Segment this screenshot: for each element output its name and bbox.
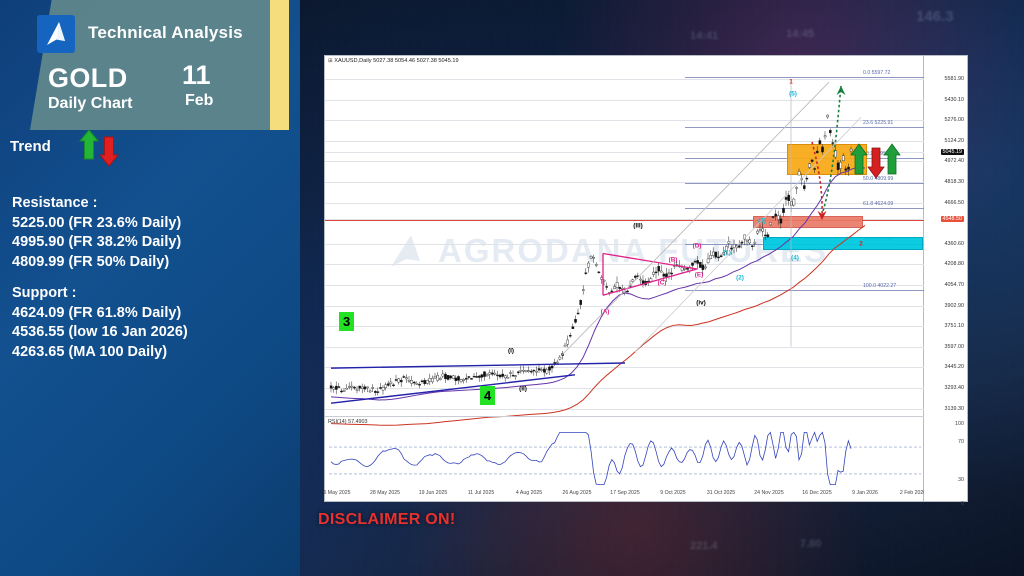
price-axis-label: 3293.40 [945, 385, 965, 391]
price-pane: 0.0 5597.7223.6 5225.9138.2 4995.9050.0 … [325, 68, 925, 416]
price-axis-label: 4548.50 [941, 216, 965, 222]
support-title: Support : [12, 284, 188, 304]
wave-label: (A) [601, 309, 610, 316]
bg-ghost-number: 146.3 [916, 8, 954, 25]
wave-label: (D) [693, 243, 702, 250]
wave-label: (I) [508, 348, 514, 355]
wave-label: (1) [723, 250, 731, 257]
wave-label: (C) [658, 280, 667, 287]
price-axis-label: 5581.90 [945, 76, 965, 82]
support-item: 4263.65 (MA 100 Daily) [12, 343, 188, 363]
disclaimer-text: DISCLAIMER ON! [318, 511, 456, 529]
wave-label: (III) [633, 223, 643, 230]
instrument-name: GOLD [48, 63, 128, 94]
bg-ghost-number: 221.4 [690, 540, 718, 552]
timeframe-label: Daily Chart [48, 95, 132, 113]
date-axis-label: 9 Oct 2025 [660, 490, 685, 496]
green-up-arrow-icon [80, 130, 98, 159]
date-axis-label: 17 Sep 2025 [610, 490, 639, 496]
wave-count-4: 4 [480, 386, 495, 405]
red-down-arrow-icon [100, 137, 118, 166]
resistance-item: 4809.99 (FR 50% Daily) [12, 253, 181, 273]
direction-arrows [851, 144, 900, 178]
red-down-arrow-icon [868, 148, 884, 178]
price-axis[interactable]: 5581.905430.105276.005124.205045.194972.… [924, 55, 968, 502]
support-item: 4624.09 (FR 61.8% Daily) [12, 304, 188, 324]
price-axis-label: 4054.70 [945, 282, 965, 288]
date-axis-label: 6 May 2025 [323, 490, 350, 496]
date-axis-label: 4 Aug 2025 [516, 490, 542, 496]
bg-ghost-number: 14:45 [786, 28, 814, 40]
date-axis-label: 26 Aug 2025 [562, 490, 591, 496]
green-up-arrow-icon [851, 144, 867, 174]
price-axis-label: 5276.00 [945, 117, 965, 123]
rsi-axis-label: 100 [955, 421, 964, 427]
date-axis-label: 9 Jan 2026 [852, 490, 878, 496]
quote-header: ⊞ XAUUSD,Daily 5027.38 5054.46 5027.38 5… [328, 58, 459, 64]
price-axis-label: 4818.30 [945, 179, 965, 185]
support-block: Support : 4624.09 (FR 61.8% Daily) 4536.… [12, 284, 188, 362]
date-axis-label: 11 Jul 2025 [468, 490, 494, 496]
trend-arrows [78, 127, 132, 169]
price-axis-label: 3445.20 [945, 364, 965, 370]
price-axis-label: 5124.20 [945, 138, 965, 144]
wave-label: 1 [789, 79, 793, 86]
price-axis-label: 5430.10 [945, 97, 965, 103]
rsi-axis-label: 0 [961, 501, 964, 507]
green-up-arrow-icon [884, 144, 900, 174]
rsi-axis-label: 30 [958, 477, 964, 483]
resistance-title: Resistance : [12, 194, 181, 214]
bg-ghost-number: 14:41 [690, 30, 718, 42]
date-axis-label: 24 Nov 2025 [754, 490, 783, 496]
bg-ghost-number: 7.80 [800, 538, 821, 550]
price-axis-label: 4666.50 [945, 200, 965, 206]
date-axis-label: 19 Jun 2025 [419, 490, 448, 496]
candlestick-series [330, 114, 852, 395]
rsi-line [331, 432, 851, 484]
price-chart[interactable]: ⊞ XAUUSD,Daily 5027.38 5054.46 5027.38 5… [324, 55, 924, 502]
price-axis-label: 3139.30 [945, 406, 965, 412]
rsi-axis-label: 70 [958, 439, 964, 445]
wave-label: (5) [789, 91, 797, 98]
date-axis-label: 16 Dec 2025 [802, 490, 831, 496]
price-axis-label: 4972.40 [945, 158, 965, 164]
resistance-block: Resistance : 5225.00 (FR 23.6% Daily) 49… [12, 194, 181, 272]
ma-100-line [331, 225, 865, 425]
page-title: Technical Analysis [88, 23, 243, 43]
price-axis-label: 3902.90 [945, 303, 965, 309]
date-month: Feb [185, 92, 213, 110]
wave-count-3: 3 [339, 312, 354, 331]
ma-50-line [331, 167, 865, 400]
trend-label: Trend [10, 138, 51, 155]
price-axis-label: 3751.10 [945, 323, 965, 329]
wave-label: (iv) [696, 300, 706, 307]
wave-label: (2) [736, 275, 744, 282]
info-sidebar: Technical Analysis GOLD Daily Chart 11 F… [0, 0, 300, 576]
price-axis-label: 5045.19 [941, 149, 965, 155]
channel-line [635, 117, 861, 352]
wave-label: (B) [669, 257, 678, 264]
bearish-projection-arrow [812, 142, 827, 220]
price-axis-label: 4208.80 [945, 261, 965, 267]
arrow-logo-icon [37, 15, 75, 53]
bullish-projection-arrow [823, 86, 846, 211]
header-accent-stripe [270, 0, 289, 130]
wave-label: 2 [859, 241, 863, 248]
resistance-item: 4995.90 (FR 38.2% Daily) [12, 233, 181, 253]
wave-label: (3) [758, 218, 766, 225]
wave-label: (II) [519, 386, 527, 393]
resistance-item: 5225.00 (FR 23.6% Daily) [12, 214, 181, 234]
date-axis-label: 31 Oct 2025 [707, 490, 735, 496]
wave-label: (E) [695, 272, 704, 279]
price-axis-label: 3597.00 [945, 344, 965, 350]
date-axis-label: 2 Feb 2026 [900, 490, 926, 496]
date-day: 11 [182, 60, 211, 91]
wedge-trendlines [331, 363, 625, 403]
date-axis: 6 May 202528 May 202519 Jun 202511 Jul 2… [325, 487, 925, 501]
date-axis-label: 28 May 2025 [370, 490, 400, 496]
wave-label: (4) [791, 255, 799, 262]
price-axis-label: 4360.60 [945, 241, 965, 247]
price-series-overlay [325, 68, 925, 416]
support-item: 4536.55 (low 16 Jan 2026) [12, 323, 188, 343]
